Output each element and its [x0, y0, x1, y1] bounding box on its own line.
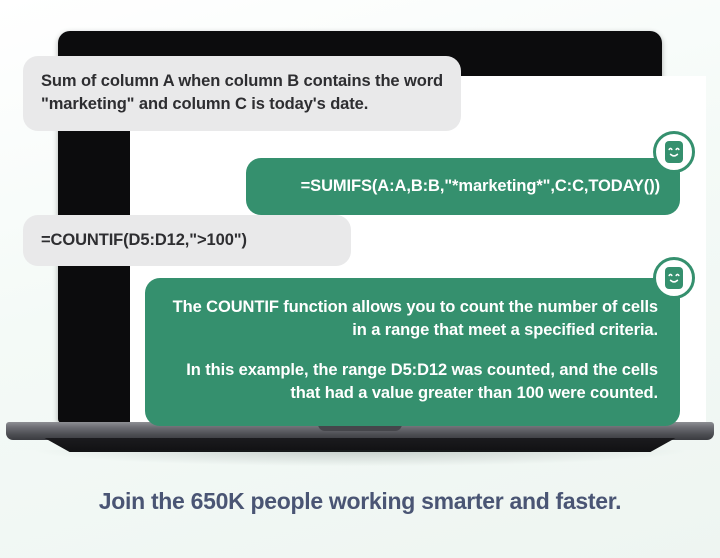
bot-avatar: [653, 131, 695, 173]
chat-message-user-countif: =COUNTIF(D5:D12,">100"): [23, 215, 351, 266]
chat-message-bot-sumifs: =SUMIFS(A:A,B:B,"*marketing*",C:C,TODAY(…: [246, 158, 680, 215]
bot-avatar: [653, 257, 695, 299]
countif-explanation-paragraph-2: In this example, the range D5:D12 was co…: [167, 359, 658, 406]
marketing-tagline: Join the 650K people working smarter and…: [0, 488, 720, 515]
chat-message-bot-countif-explanation: The COUNTIF function allows you to count…: [145, 278, 680, 426]
robot-face-icon: [664, 266, 684, 290]
robot-face-icon: [664, 140, 684, 164]
laptop-shadow: [36, 450, 684, 466]
chat-message-user-prompt: Sum of column A when column B contains t…: [23, 56, 461, 131]
countif-explanation-paragraph-1: The COUNTIF function allows you to count…: [167, 296, 658, 343]
